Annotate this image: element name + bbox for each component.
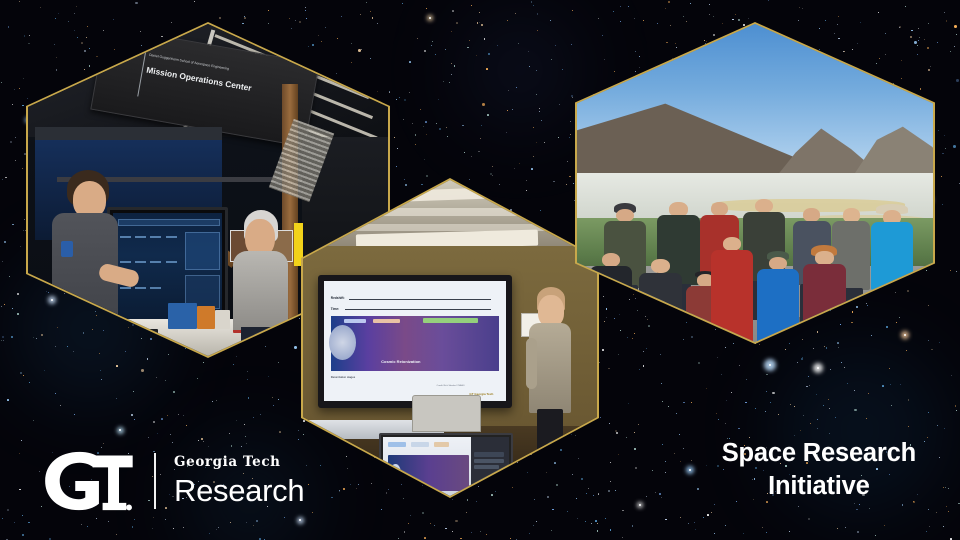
logo-unit-name: Georgia Tech [174, 456, 304, 470]
page-title-line-2: Initiative [722, 470, 916, 504]
page-title-line-1: Space Research [722, 437, 916, 471]
slide-chip-0 [344, 319, 366, 323]
presentation-display: Redshift: Time: Cosmic Reionization [318, 275, 512, 408]
slide-redshift-label: Redshift: [331, 296, 345, 300]
sign-line-2: Mission Operations Center [146, 64, 253, 92]
slide-credit: Credit: Rick Shenkel / NRAO [437, 385, 465, 387]
slide-chip-1 [373, 319, 400, 323]
georgia-tech-research-logo: Georgia Tech Research [42, 450, 304, 512]
presenter-laptop [412, 395, 482, 432]
slide-band-title: Cosmic Reionization [381, 359, 420, 364]
slide-chip-2 [423, 318, 478, 323]
gt-monogram-icon [42, 450, 134, 512]
slide-time-label: Time: [331, 307, 339, 311]
logo-divider [154, 453, 156, 509]
logo-main-name: Research [174, 475, 304, 506]
poster-canvas: GT Daniel Guggenheim School of Aerospace… [0, 0, 960, 540]
slide-stage-label: Reionization stages [331, 375, 355, 379]
page-title: Space Research Initiative [722, 437, 916, 504]
